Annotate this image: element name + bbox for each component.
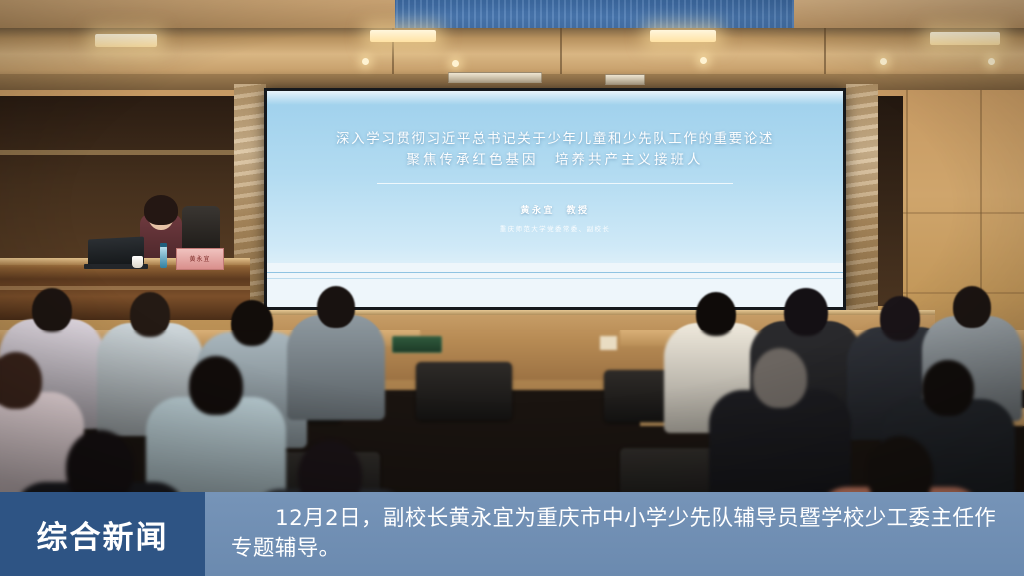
news-photo: 深入学习贯彻习近平总书记关于少年儿童和少先队工作的重要论述 聚焦传承红色基因 培… — [0, 0, 1024, 576]
audience-member-head — [784, 288, 827, 336]
desk-nameplate — [392, 336, 442, 353]
caption-category-label: 综合新闻 — [37, 512, 169, 557]
audience-member-head — [231, 300, 273, 346]
audience-member-head — [696, 292, 736, 336]
caption-text: 12月2日，副校长黄永宜为重庆市中小学少先队辅导员暨学校少工委主任作专题辅导。 — [231, 504, 1002, 564]
audience-member-head — [32, 288, 72, 332]
audience-member-head — [922, 360, 973, 416]
caption-category-tag: 综合新闻 — [0, 492, 205, 576]
audience-member — [814, 436, 987, 492]
audience-member-head — [298, 440, 362, 492]
audience-member-head — [867, 436, 933, 492]
audience-member-head — [953, 286, 991, 328]
caption-body: 12月2日，副校长黄永宜为重庆市中小学少先队辅导员暨学校少工委主任作专题辅导。 — [205, 492, 1024, 576]
audience-member-body — [287, 315, 386, 420]
audience-member-head — [880, 296, 921, 341]
audience-member — [12, 430, 189, 492]
caption-bar: 综合新闻 12月2日，副校长黄永宜为重庆市中小学少先队辅导员暨学校少工委主任作专… — [0, 492, 1024, 576]
audience-member-head — [130, 292, 171, 337]
audience-member-head — [66, 430, 134, 492]
audience-member-head — [753, 348, 807, 408]
audience-member — [287, 286, 386, 391]
audience-member-head — [0, 352, 42, 409]
audience-area — [0, 0, 1024, 492]
audience-member-head — [317, 286, 355, 328]
audience-chair — [416, 362, 512, 420]
audience-member-head — [189, 356, 243, 415]
audience-member — [247, 440, 413, 492]
lecture-hall-photo: 深入学习贯彻习近平总书记关于少年儿童和少先队工作的重要论述 聚焦传承红色基因 培… — [0, 0, 1024, 492]
